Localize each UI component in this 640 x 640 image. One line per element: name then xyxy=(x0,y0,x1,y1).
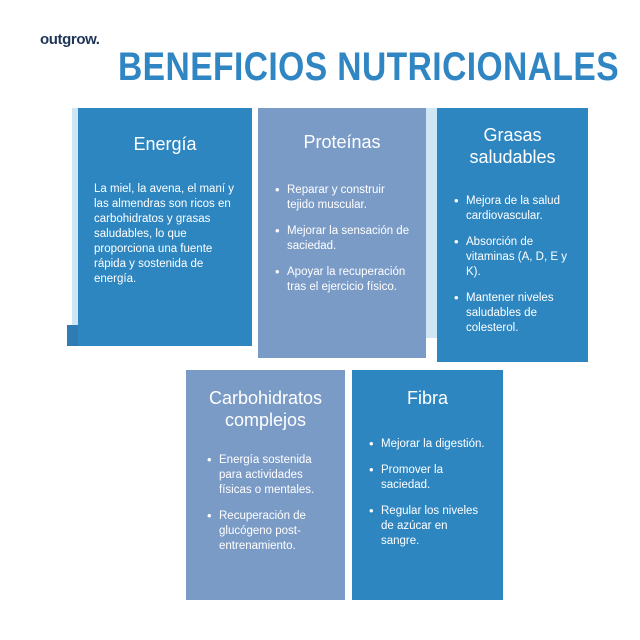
list-item: Absorción de vitaminas (A, D, E y K). xyxy=(453,235,572,280)
list-item: Apoyar la recuperación tras el ejercicio… xyxy=(274,265,410,295)
card-energia: Energía La miel, la avena, el maní y las… xyxy=(78,108,252,346)
infographic-canvas: outgrow. BENEFICIOS NUTRICIONALES Energí… xyxy=(0,0,640,640)
list-item: Mantener niveles saludables de colestero… xyxy=(453,291,572,336)
list-item: Promover la saciedad. xyxy=(368,463,487,493)
list-item: Reparar y construir tejido muscular. xyxy=(274,183,410,213)
logo-wordmark: outgrow xyxy=(40,31,96,48)
card-proteinas-bullet-list: Reparar y construir tejido muscular. Mej… xyxy=(274,183,410,295)
list-item: Mejora de la salud cardiovascular. xyxy=(453,194,572,224)
card-carbohidratos-bullet-list: Energía sostenida para actividades físic… xyxy=(202,453,329,554)
list-item: Mejorar la digestión. xyxy=(368,437,487,452)
card-carbohidratos-complejos: Carbohidratos complejos Energía sostenid… xyxy=(186,370,345,600)
card-proteinas-title: Proteínas xyxy=(274,131,410,153)
list-item: Mejorar la sensación de saciedad. xyxy=(274,224,410,254)
list-item: Regular los niveles de azúcar en sangre. xyxy=(368,504,487,549)
card-energia-paragraph: La miel, la avena, el maní y las almendr… xyxy=(94,182,236,287)
card-energia-title: Energía xyxy=(94,133,236,155)
outgrow-logo: outgrow. xyxy=(40,31,100,48)
card-carbohidratos-title: Carbohidratos complejos xyxy=(202,387,329,431)
card-fibra-bullet-list: Mejorar la digestión. Promover la sacied… xyxy=(368,437,487,549)
card-grasas-saludables: Grasas saludables Mejora de la salud car… xyxy=(437,108,588,362)
list-item: Recuperación de glucógeno post-entrenami… xyxy=(206,509,329,554)
card-fibra: Fibra Mejorar la digestión. Promover la … xyxy=(352,370,503,600)
card-grasas-title: Grasas saludables xyxy=(453,124,572,168)
card-fibra-title: Fibra xyxy=(368,387,487,409)
list-item: Energía sostenida para actividades físic… xyxy=(206,453,329,498)
card-grasas-bullet-list: Mejora de la salud cardiovascular. Absor… xyxy=(453,194,572,336)
page-title: BENEFICIOS NUTRICIONALES xyxy=(118,46,619,88)
card-proteinas: Proteínas Reparar y construir tejido mus… xyxy=(258,108,426,358)
logo-dot: . xyxy=(96,31,100,48)
